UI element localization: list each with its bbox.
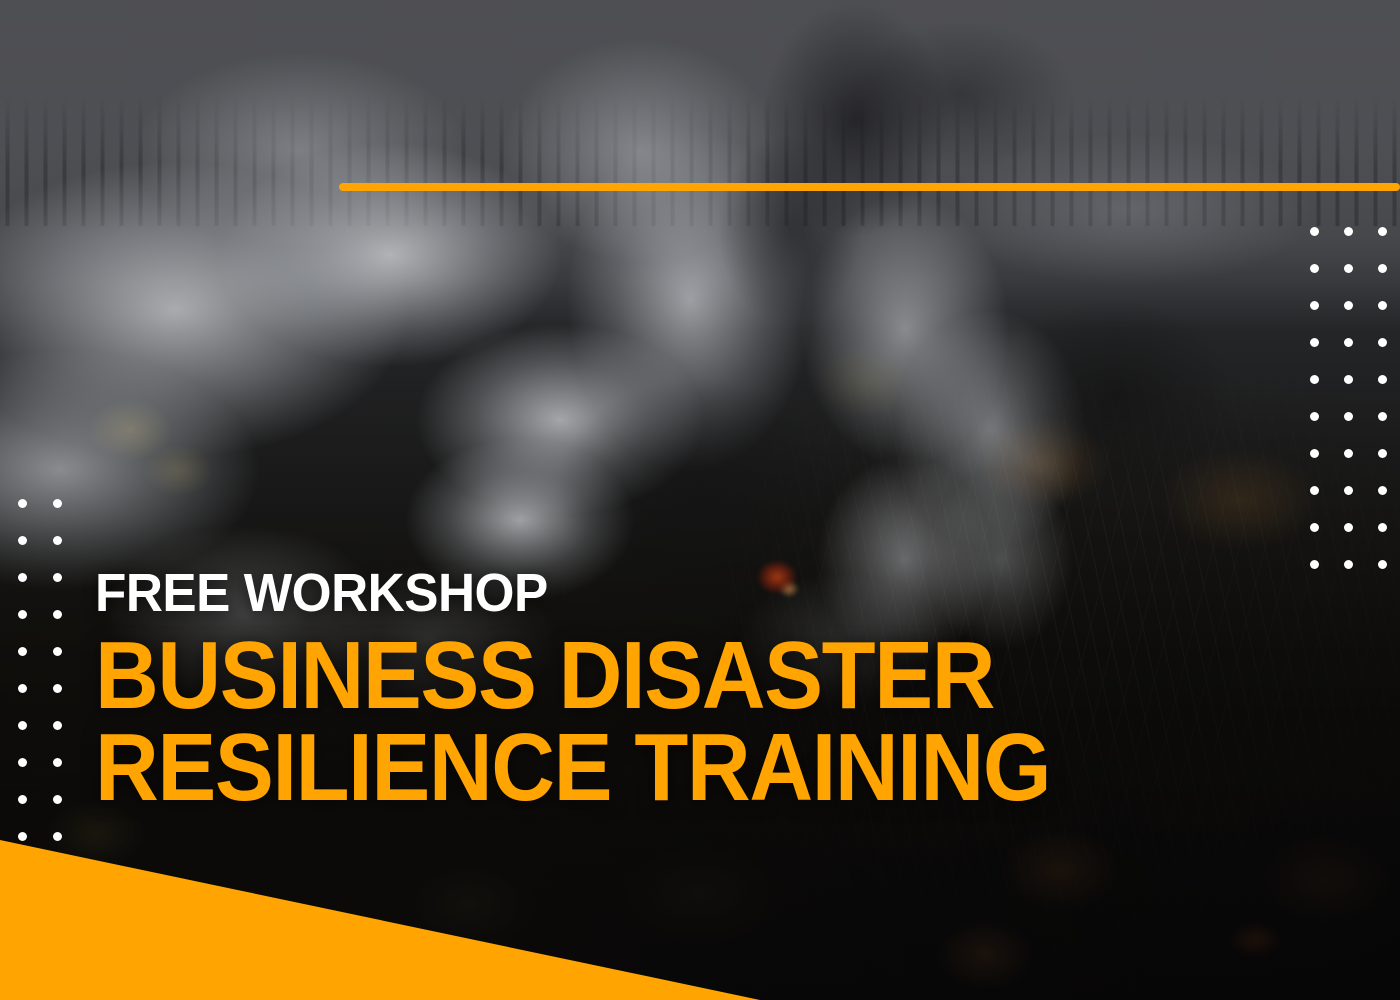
dot: [1378, 227, 1387, 236]
dot: [1344, 449, 1353, 458]
dot: [18, 832, 27, 841]
dot: [1310, 264, 1319, 273]
dot: [1310, 523, 1319, 532]
background-photo-wildfire: [0, 0, 1400, 1000]
top-accent-rule: [339, 183, 1400, 191]
dot: [1378, 412, 1387, 421]
dot: [18, 758, 27, 767]
dot: [1378, 449, 1387, 458]
dot: [18, 610, 27, 619]
dot: [18, 795, 27, 804]
dot: [18, 647, 27, 656]
dot: [1378, 560, 1387, 569]
dot: [1344, 412, 1353, 421]
dot: [1378, 486, 1387, 495]
dot: [53, 758, 62, 767]
dot: [53, 610, 62, 619]
dot: [18, 573, 27, 582]
headline-line-2: RESILIENCE TRAINING: [95, 722, 1254, 814]
dot: [1310, 375, 1319, 384]
dot: [1378, 301, 1387, 310]
dot: [1344, 338, 1353, 347]
dot: [53, 573, 62, 582]
dot: [1344, 523, 1353, 532]
dot: [1378, 375, 1387, 384]
dot: [1310, 486, 1319, 495]
dot: [18, 684, 27, 693]
dot: [53, 721, 62, 730]
dot: [18, 721, 27, 730]
dot: [1344, 227, 1353, 236]
dot: [1378, 264, 1387, 273]
dot: [1344, 301, 1353, 310]
headline-line-1: BUSINESS DISASTER: [95, 622, 994, 729]
photo-darkening-scrim: [0, 0, 1400, 1000]
eyebrow-text: FREE WORKSHOP: [95, 566, 1292, 620]
dot: [53, 795, 62, 804]
dot: [53, 684, 62, 693]
dot-grid-right: [1310, 227, 1400, 597]
dot: [1378, 338, 1387, 347]
dot-grid-left: [18, 499, 88, 869]
dot: [1344, 375, 1353, 384]
dot: [1310, 449, 1319, 458]
dot: [18, 499, 27, 508]
dot: [53, 536, 62, 545]
dot: [1310, 227, 1319, 236]
dot: [1310, 301, 1319, 310]
page-title: BUSINESS DISASTER RESILIENCE TRAINING: [95, 630, 1254, 814]
promo-banner: FREE WORKSHOP BUSINESS DISASTER RESILIEN…: [0, 0, 1400, 1000]
dot: [53, 832, 62, 841]
headline-block: FREE WORKSHOP BUSINESS DISASTER RESILIEN…: [95, 566, 1355, 814]
dot: [18, 536, 27, 545]
dot: [1344, 486, 1353, 495]
dot: [1378, 523, 1387, 532]
dot: [53, 499, 62, 508]
dot: [1310, 412, 1319, 421]
dot: [1344, 264, 1353, 273]
dot: [53, 647, 62, 656]
dot: [1310, 338, 1319, 347]
